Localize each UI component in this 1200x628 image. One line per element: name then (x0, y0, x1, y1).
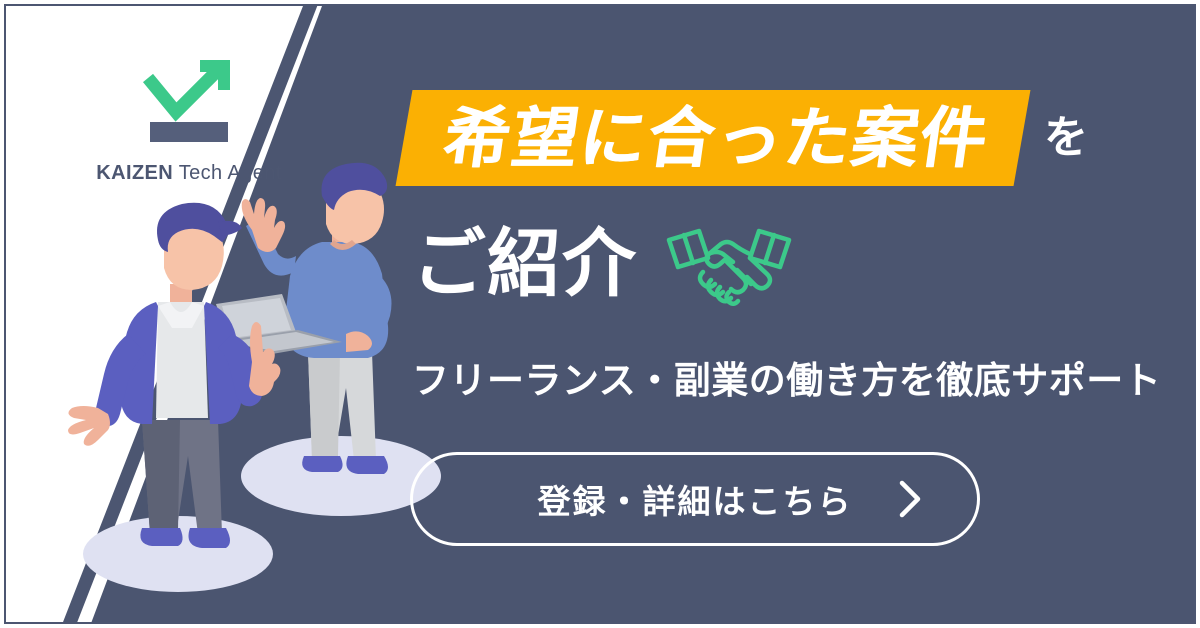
subhead-text: ご紹介 (412, 227, 637, 301)
cta-button[interactable]: 登録・詳細はこちら (410, 452, 980, 546)
subhead-row: ご紹介 (412, 218, 795, 310)
person-waving-illustration (68, 203, 280, 548)
cta-button-label: 登録・詳細はこちら (538, 475, 853, 523)
person-with-laptop-illustration (216, 163, 392, 474)
content-column: 希望に合った案件 を ご紹介 (404, 6, 1194, 624)
tagline-text: フリーランス・副業の働き方を徹底サポート (412, 350, 1161, 404)
chevron-right-icon (897, 479, 923, 519)
headline-row: 希望に合った案件 を (404, 90, 1088, 186)
headline-highlight-text: 希望に合った案件 (439, 105, 992, 171)
kaizen-tech-agent-banner: KAIZEN Tech Agent (0, 0, 1200, 628)
headline-tail-text: を (1044, 90, 1088, 186)
headline-highlight-band: 希望に合った案件 (396, 90, 1031, 186)
handshake-icon (663, 218, 795, 310)
banner-frame: KAIZEN Tech Agent (4, 4, 1196, 624)
people-illustration (46, 156, 466, 596)
upward-arrow-check-icon (134, 52, 244, 148)
